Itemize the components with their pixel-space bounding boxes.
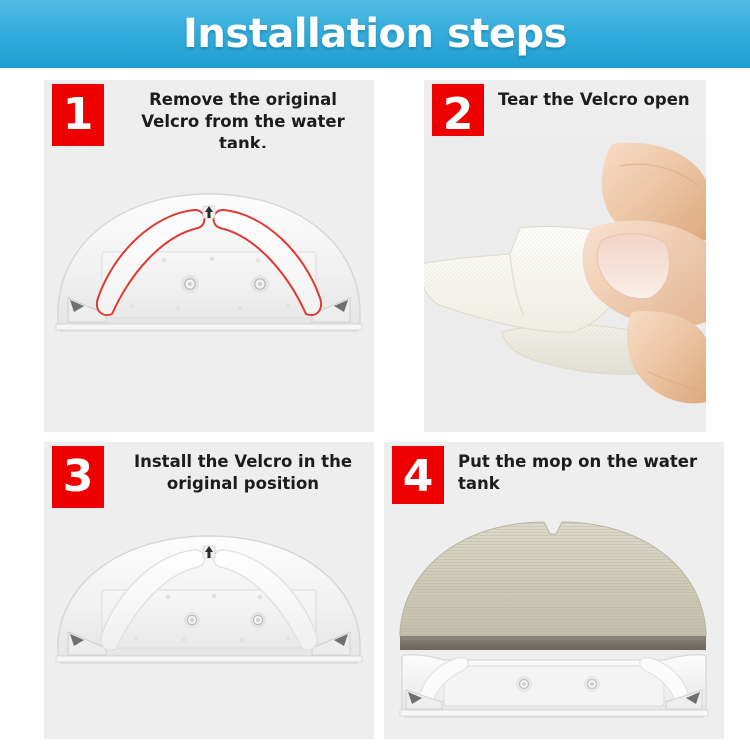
header-banner: Installation steps — [0, 0, 750, 68]
mop-and-tank-illustration — [384, 504, 724, 739]
step-panel-3: 3 Install the Velcro in the original pos… — [44, 442, 374, 739]
step-1-caption: Remove the original Velcro from the wate… — [104, 80, 374, 155]
step-1-number-badge: 1 — [52, 84, 104, 146]
step-panel-2: 2 Tear the Velcro open — [424, 80, 706, 432]
step-3-caption-row: 3 Install the Velcro in the original pos… — [44, 442, 374, 510]
tank-bottom-rail — [56, 324, 362, 330]
step-3-caption: Install the Velcro in the original posit… — [104, 442, 374, 495]
step-4-image — [384, 504, 724, 739]
water-tank-illustration-1 — [44, 148, 374, 432]
steps-grid: 1 Remove the original Velcro from the wa… — [0, 68, 750, 750]
step-1-image — [44, 148, 374, 432]
mop-edge-strip — [400, 636, 706, 650]
alignment-arrow-marker — [203, 546, 215, 558]
tank-bottom-rail — [400, 710, 708, 716]
tank-bottom-rail — [56, 656, 362, 662]
alignment-arrow-marker — [203, 206, 215, 218]
step-3-number-badge: 3 — [52, 446, 104, 508]
step-4-number-badge: 4 — [392, 446, 444, 508]
step-4-caption: Put the mop on the water tank — [444, 442, 724, 495]
installation-steps-infographic: Installation steps 1 Remove the original… — [0, 0, 750, 750]
step-3-image — [44, 510, 374, 739]
step-4-caption-row: 4 Put the mop on the water tank — [384, 442, 724, 510]
water-tank-illustration-3 — [44, 510, 374, 739]
tank-base-plate — [444, 666, 664, 706]
step-panel-4: 4 Put the mop on the water tank — [384, 442, 724, 739]
page-title: Installation steps — [183, 11, 567, 57]
step-2-image — [424, 136, 706, 432]
step-panel-1: 1 Remove the original Velcro from the wa… — [44, 80, 374, 432]
step-1-caption-row: 1 Remove the original Velcro from the wa… — [44, 80, 374, 148]
step-2-caption: Tear the Velcro open — [484, 80, 706, 111]
water-tank-below-mop — [400, 655, 708, 717]
hand-peeling-velcro-illustration — [424, 136, 706, 432]
